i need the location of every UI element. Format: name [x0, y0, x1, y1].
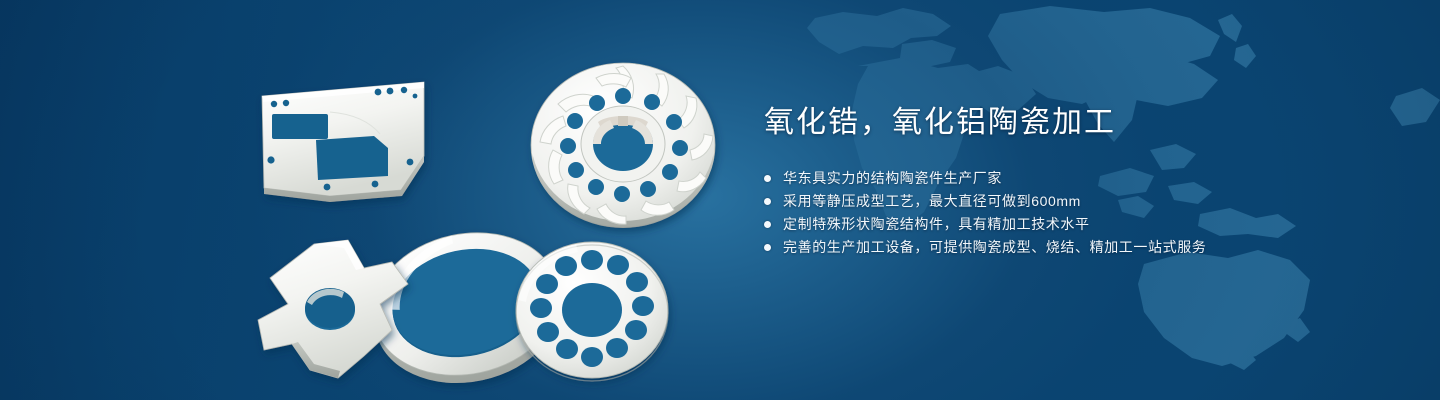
product-photo-group: [238, 38, 708, 383]
ceramic-hole-ring-disc: [516, 242, 668, 381]
bullet-dot-icon: [764, 221, 771, 228]
list-item: 华东具实力的结构陶瓷件生产厂家: [764, 167, 1384, 190]
list-item: 采用等静压成型工艺，最大直径可做到600mm: [764, 190, 1384, 213]
bullet-dot-icon: [764, 175, 771, 182]
bullet-dot-icon: [764, 244, 771, 251]
hero-text-block: 氧化锆，氧化铝陶瓷加工 华东具实力的结构陶瓷件生产厂家 采用等静压成型工艺，最大…: [764, 106, 1384, 259]
list-item: 定制特殊形状陶瓷结构件，具有精加工技术水平: [764, 213, 1384, 236]
list-item-label: 定制特殊形状陶瓷结构件，具有精加工技术水平: [783, 213, 1090, 236]
bullet-dot-icon: [764, 198, 771, 205]
feature-list: 华东具实力的结构陶瓷件生产厂家 采用等静压成型工艺，最大直径可做到600mm 定…: [764, 167, 1384, 259]
hero-banner: 氧化锆，氧化铝陶瓷加工 华东具实力的结构陶瓷件生产厂家 采用等静压成型工艺，最大…: [0, 0, 1440, 400]
ceramic-vaned-impeller: [531, 63, 715, 228]
ceramic-machined-plate: [262, 82, 424, 202]
list-item-label: 完善的生产加工设备，可提供陶瓷成型、烧结、精加工一站式服务: [783, 236, 1206, 259]
page-title: 氧化锆，氧化铝陶瓷加工: [764, 106, 1384, 141]
list-item-label: 采用等静压成型工艺，最大直径可做到600mm: [783, 190, 1081, 213]
list-item-label: 华东具实力的结构陶瓷件生产厂家: [783, 167, 1002, 190]
list-item: 完善的生产加工设备，可提供陶瓷成型、烧结、精加工一站式服务: [764, 236, 1384, 259]
